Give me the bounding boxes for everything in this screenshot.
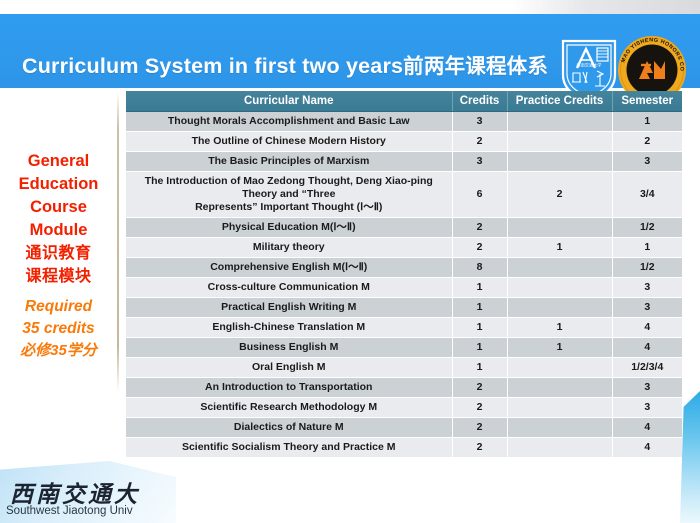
- required-credits-en-line1: Required: [0, 296, 117, 318]
- page-title-en: Curriculum System in first two years: [22, 54, 403, 78]
- table-row: Comprehensive English M(Ⅰ～Ⅱ)81/2: [126, 257, 682, 277]
- cell-practice-credits: [507, 111, 612, 131]
- column-header-semester: Semester: [612, 91, 682, 111]
- cell-curricular-name: Oral English M: [126, 357, 452, 377]
- cell-practice-credits: [507, 377, 612, 397]
- required-credits-en-line2: 35 credits: [0, 318, 117, 340]
- cell-credits: 2: [452, 437, 507, 457]
- module-label-en-line1: General: [0, 150, 117, 173]
- table-row: Scientific Research Methodology M23: [126, 397, 682, 417]
- table-row: The Introduction of Mao Zedong Thought, …: [126, 171, 682, 217]
- cell-practice-credits: [507, 417, 612, 437]
- cell-semester: 1/2/3/4: [612, 357, 682, 377]
- cell-curricular-name: Cross-culture Communication M: [126, 277, 452, 297]
- curriculum-table-wrapper: Curricular Name Credits Practice Credits…: [126, 91, 682, 458]
- university-name-en: Southwest Jiaotong Univ: [6, 505, 133, 517]
- university-watermark: 西南交通大 Southwest Jiaotong Univ: [0, 461, 176, 523]
- table-row: Oral English M11/2/3/4: [126, 357, 682, 377]
- cell-credits: 2: [452, 377, 507, 397]
- university-name-cn: 西南交通大: [10, 475, 140, 509]
- cell-practice-credits: [507, 257, 612, 277]
- cell-semester: 4: [612, 317, 682, 337]
- table-row: Physical Education M(Ⅰ～Ⅱ)21/2: [126, 217, 682, 237]
- cell-curricular-name: An Introduction to Transportation: [126, 377, 452, 397]
- table-row: The Basic Principles of Marxism33: [126, 151, 682, 171]
- cell-semester: 2: [612, 131, 682, 151]
- cell-semester: 4: [612, 437, 682, 457]
- cell-semester: 3: [612, 377, 682, 397]
- svg-text:西南交通大学: 西南交通大学: [576, 62, 601, 69]
- cell-curricular-name: English-Chinese Translation M: [126, 317, 452, 337]
- cell-curricular-name: Business English M: [126, 337, 452, 357]
- slide-canvas: Curriculum System in first two years前两年课…: [0, 0, 700, 523]
- sidebar-divider: [117, 92, 119, 392]
- cell-curricular-name: Dialectics of Nature M: [126, 417, 452, 437]
- cell-curricular-name: The Basic Principles of Marxism: [126, 151, 452, 171]
- module-label-cn-line2: 课程模块: [0, 265, 117, 288]
- cell-practice-credits: [507, 297, 612, 317]
- cell-semester: 3/4: [612, 171, 682, 217]
- table-header-row: Curricular Name Credits Practice Credits…: [126, 91, 682, 111]
- table-row: Business English M114: [126, 337, 682, 357]
- decorative-swoosh: [680, 391, 700, 523]
- cell-semester: 1/2: [612, 257, 682, 277]
- cell-credits: 1: [452, 277, 507, 297]
- cell-curricular-name: The Outline of Chinese Modern History: [126, 131, 452, 151]
- cell-credits: 6: [452, 171, 507, 217]
- table-row: Cross-culture Communication M13: [126, 277, 682, 297]
- cell-curricular-name: Comprehensive English M(Ⅰ～Ⅱ): [126, 257, 452, 277]
- cell-practice-credits: 1: [507, 317, 612, 337]
- cell-practice-credits: [507, 217, 612, 237]
- cell-practice-credits: 1: [507, 337, 612, 357]
- cell-semester: 1: [612, 111, 682, 131]
- table-row: Military theory211: [126, 237, 682, 257]
- cell-curricular-name: Scientific Research Methodology M: [126, 397, 452, 417]
- cell-curricular-name: Military theory: [126, 237, 452, 257]
- page-title: Curriculum System in first two years前两年课…: [22, 49, 548, 79]
- table-row: An Introduction to Transportation23: [126, 377, 682, 397]
- cell-credits: 1: [452, 337, 507, 357]
- cell-credits: 2: [452, 131, 507, 151]
- top-gray-wash: [510, 0, 700, 14]
- module-label-cn-line1: 通识教育: [0, 242, 117, 265]
- cell-credits: 8: [452, 257, 507, 277]
- cell-semester: 3: [612, 151, 682, 171]
- cell-curricular-name: Thought Morals Accomplishment and Basic …: [126, 111, 452, 131]
- cell-semester: 3: [612, 397, 682, 417]
- table-body: Thought Morals Accomplishment and Basic …: [126, 111, 682, 457]
- module-label-en-line2: Education: [0, 173, 117, 196]
- table-row: Scientific Socialism Theory and Practice…: [126, 437, 682, 457]
- table-row: Thought Morals Accomplishment and Basic …: [126, 111, 682, 131]
- cell-practice-credits: [507, 437, 612, 457]
- cell-practice-credits: [507, 277, 612, 297]
- column-header-credits: Credits: [452, 91, 507, 111]
- cell-credits: 1: [452, 317, 507, 337]
- cell-curricular-name: The Introduction of Mao Zedong Thought, …: [126, 171, 452, 217]
- cell-practice-credits: [507, 131, 612, 151]
- module-label-group: General Education Course Module 通识教育 课程模…: [0, 150, 117, 288]
- cell-credits: 2: [452, 217, 507, 237]
- cell-practice-credits: 2: [507, 171, 612, 217]
- table-row: English-Chinese Translation M114: [126, 317, 682, 337]
- page-title-cn: 前两年课程体系: [403, 55, 548, 78]
- cell-semester: 1: [612, 237, 682, 257]
- cell-semester: 3: [612, 277, 682, 297]
- cell-curricular-name: Practical English Writing M: [126, 297, 452, 317]
- cell-credits: 3: [452, 151, 507, 171]
- cell-credits: 3: [452, 111, 507, 131]
- cell-semester: 1/2: [612, 217, 682, 237]
- cell-credits: 2: [452, 417, 507, 437]
- cell-credits: 2: [452, 237, 507, 257]
- table-row: Practical English Writing M13: [126, 297, 682, 317]
- cell-curricular-name: Physical Education M(Ⅰ～Ⅱ): [126, 217, 452, 237]
- table-row: The Outline of Chinese Modern History22: [126, 131, 682, 151]
- cell-semester: 3: [612, 297, 682, 317]
- module-label-en-line4: Module: [0, 219, 117, 242]
- cell-semester: 4: [612, 417, 682, 437]
- table-row: Dialectics of Nature M24: [126, 417, 682, 437]
- required-credits-group: Required 35 credits 必修35学分: [0, 296, 117, 362]
- cell-practice-credits: [507, 397, 612, 417]
- module-label-en-line3: Course: [0, 196, 117, 219]
- title-band: Curriculum System in first two years前两年课…: [0, 14, 700, 88]
- cell-credits: 2: [452, 397, 507, 417]
- curriculum-table: Curricular Name Credits Practice Credits…: [126, 91, 682, 458]
- column-header-practice-credits: Practice Credits: [507, 91, 612, 111]
- cell-credits: 1: [452, 297, 507, 317]
- table-header: Curricular Name Credits Practice Credits…: [126, 91, 682, 111]
- cell-credits: 1: [452, 357, 507, 377]
- cell-practice-credits: [507, 151, 612, 171]
- column-header-curricular-name: Curricular Name: [126, 91, 452, 111]
- cell-practice-credits: [507, 357, 612, 377]
- required-credits-cn: 必修35学分: [0, 340, 117, 362]
- cell-practice-credits: 1: [507, 237, 612, 257]
- cell-curricular-name: Scientific Socialism Theory and Practice…: [126, 437, 452, 457]
- cell-semester: 4: [612, 337, 682, 357]
- sidebar-panel: General Education Course Module 通识教育 课程模…: [0, 88, 118, 523]
